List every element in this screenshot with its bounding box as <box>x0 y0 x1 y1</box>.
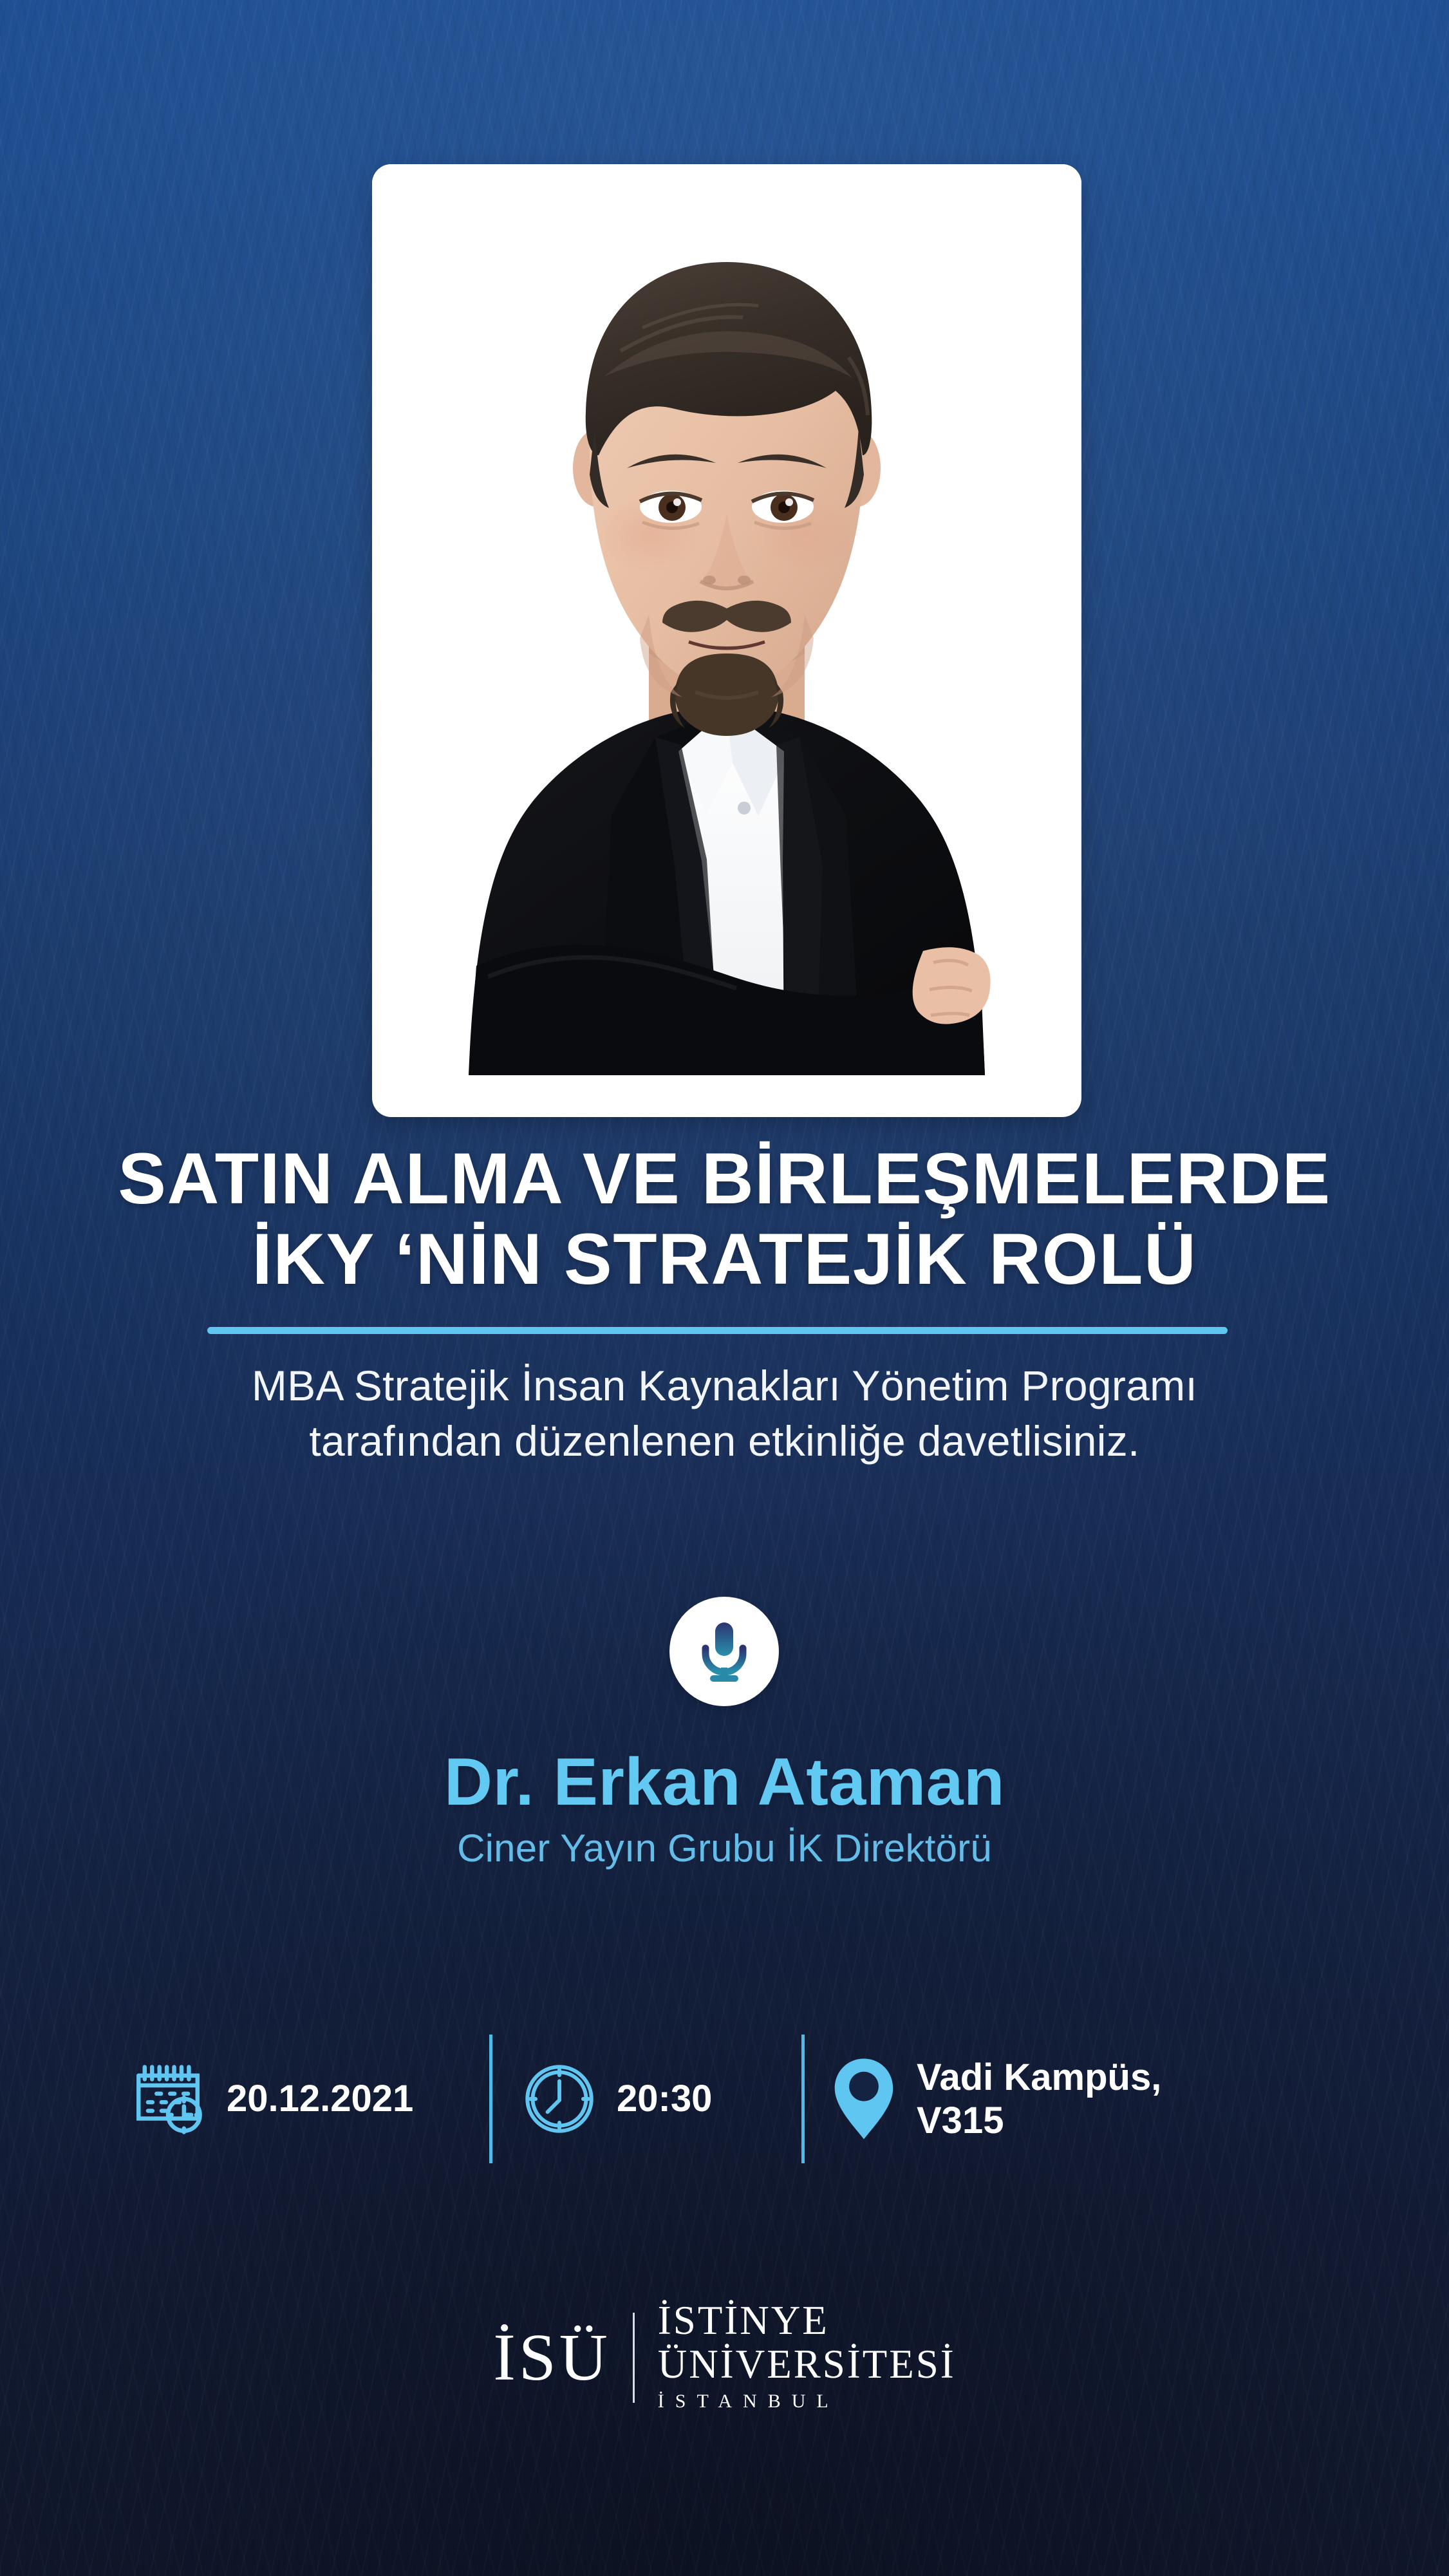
event-date-value: 20.12.2021 <box>227 2077 413 2120</box>
event-place-value: Vadi Kampüs, V315 <box>917 2056 1161 2143</box>
speaker-name: Dr. Erkan Ataman <box>0 1746 1449 1818</box>
event-poster: SATIN ALMA VE BİRLEŞMELERDE İKY ‘NİN STR… <box>0 0 1449 2576</box>
speaker-block: Dr. Erkan Ataman Ciner Yayın Grubu İK Di… <box>0 1746 1449 1870</box>
microphone-badge <box>669 1597 779 1706</box>
logo-word-universitesi: ÜNİVERSİTESİ <box>658 2342 956 2386</box>
event-place-item: Vadi Kampüs, V315 <box>830 2028 1161 2170</box>
clock-icon <box>521 2061 597 2137</box>
event-place-line-1: Vadi Kampüs, <box>917 2056 1161 2098</box>
event-date-item: 20.12.2021 <box>129 2028 413 2170</box>
logo-word-istanbul: İSTANBUL <box>658 2386 956 2417</box>
logo-word-istinye: İSTİNYE <box>658 2299 956 2342</box>
microphone-icon <box>698 1621 751 1683</box>
event-time-item: 20:30 <box>521 2028 712 2170</box>
title-line-1: SATIN ALMA VE BİRLEŞMELERDE <box>0 1138 1449 1219</box>
logo-mark-isu: İSÜ <box>493 2324 633 2391</box>
location-pin-icon <box>830 2054 897 2143</box>
details-divider-1 <box>489 2035 492 2163</box>
details-divider-2 <box>801 2035 805 2163</box>
event-details-row: 20.12.2021 20:30 Vadi Kampüs, <box>129 2028 1326 2170</box>
title-divider-rule <box>207 1327 1228 1334</box>
event-title: SATIN ALMA VE BİRLEŞMELERDE İKY ‘NİN STR… <box>0 1138 1449 1300</box>
logo-wordmark: İSTİNYE ÜNİVERSİTESİ İSTANBUL <box>635 2299 956 2417</box>
speaker-photo-card <box>372 164 1081 1117</box>
calendar-clock-icon <box>129 2060 207 2138</box>
event-place-line-2: V315 <box>917 2100 1004 2141</box>
event-time-value: 20:30 <box>617 2077 712 2120</box>
title-line-2: İKY ‘NİN STRATEJİK ROLÜ <box>0 1219 1449 1299</box>
subtitle-line-2: tarafından düzenlenen etkinliğe davetlis… <box>0 1414 1449 1469</box>
subtitle-line-1: MBA Stratejik İnsan Kaynakları Yönetim P… <box>0 1359 1449 1414</box>
event-subtitle: MBA Stratejik İnsan Kaynakları Yönetim P… <box>0 1359 1449 1469</box>
speaker-photo <box>372 164 1081 1075</box>
speaker-role: Ciner Yayın Grubu İK Direktörü <box>0 1826 1449 1870</box>
university-logo: İSÜ İSTİNYE ÜNİVERSİTESİ İSTANBUL <box>0 2299 1449 2417</box>
